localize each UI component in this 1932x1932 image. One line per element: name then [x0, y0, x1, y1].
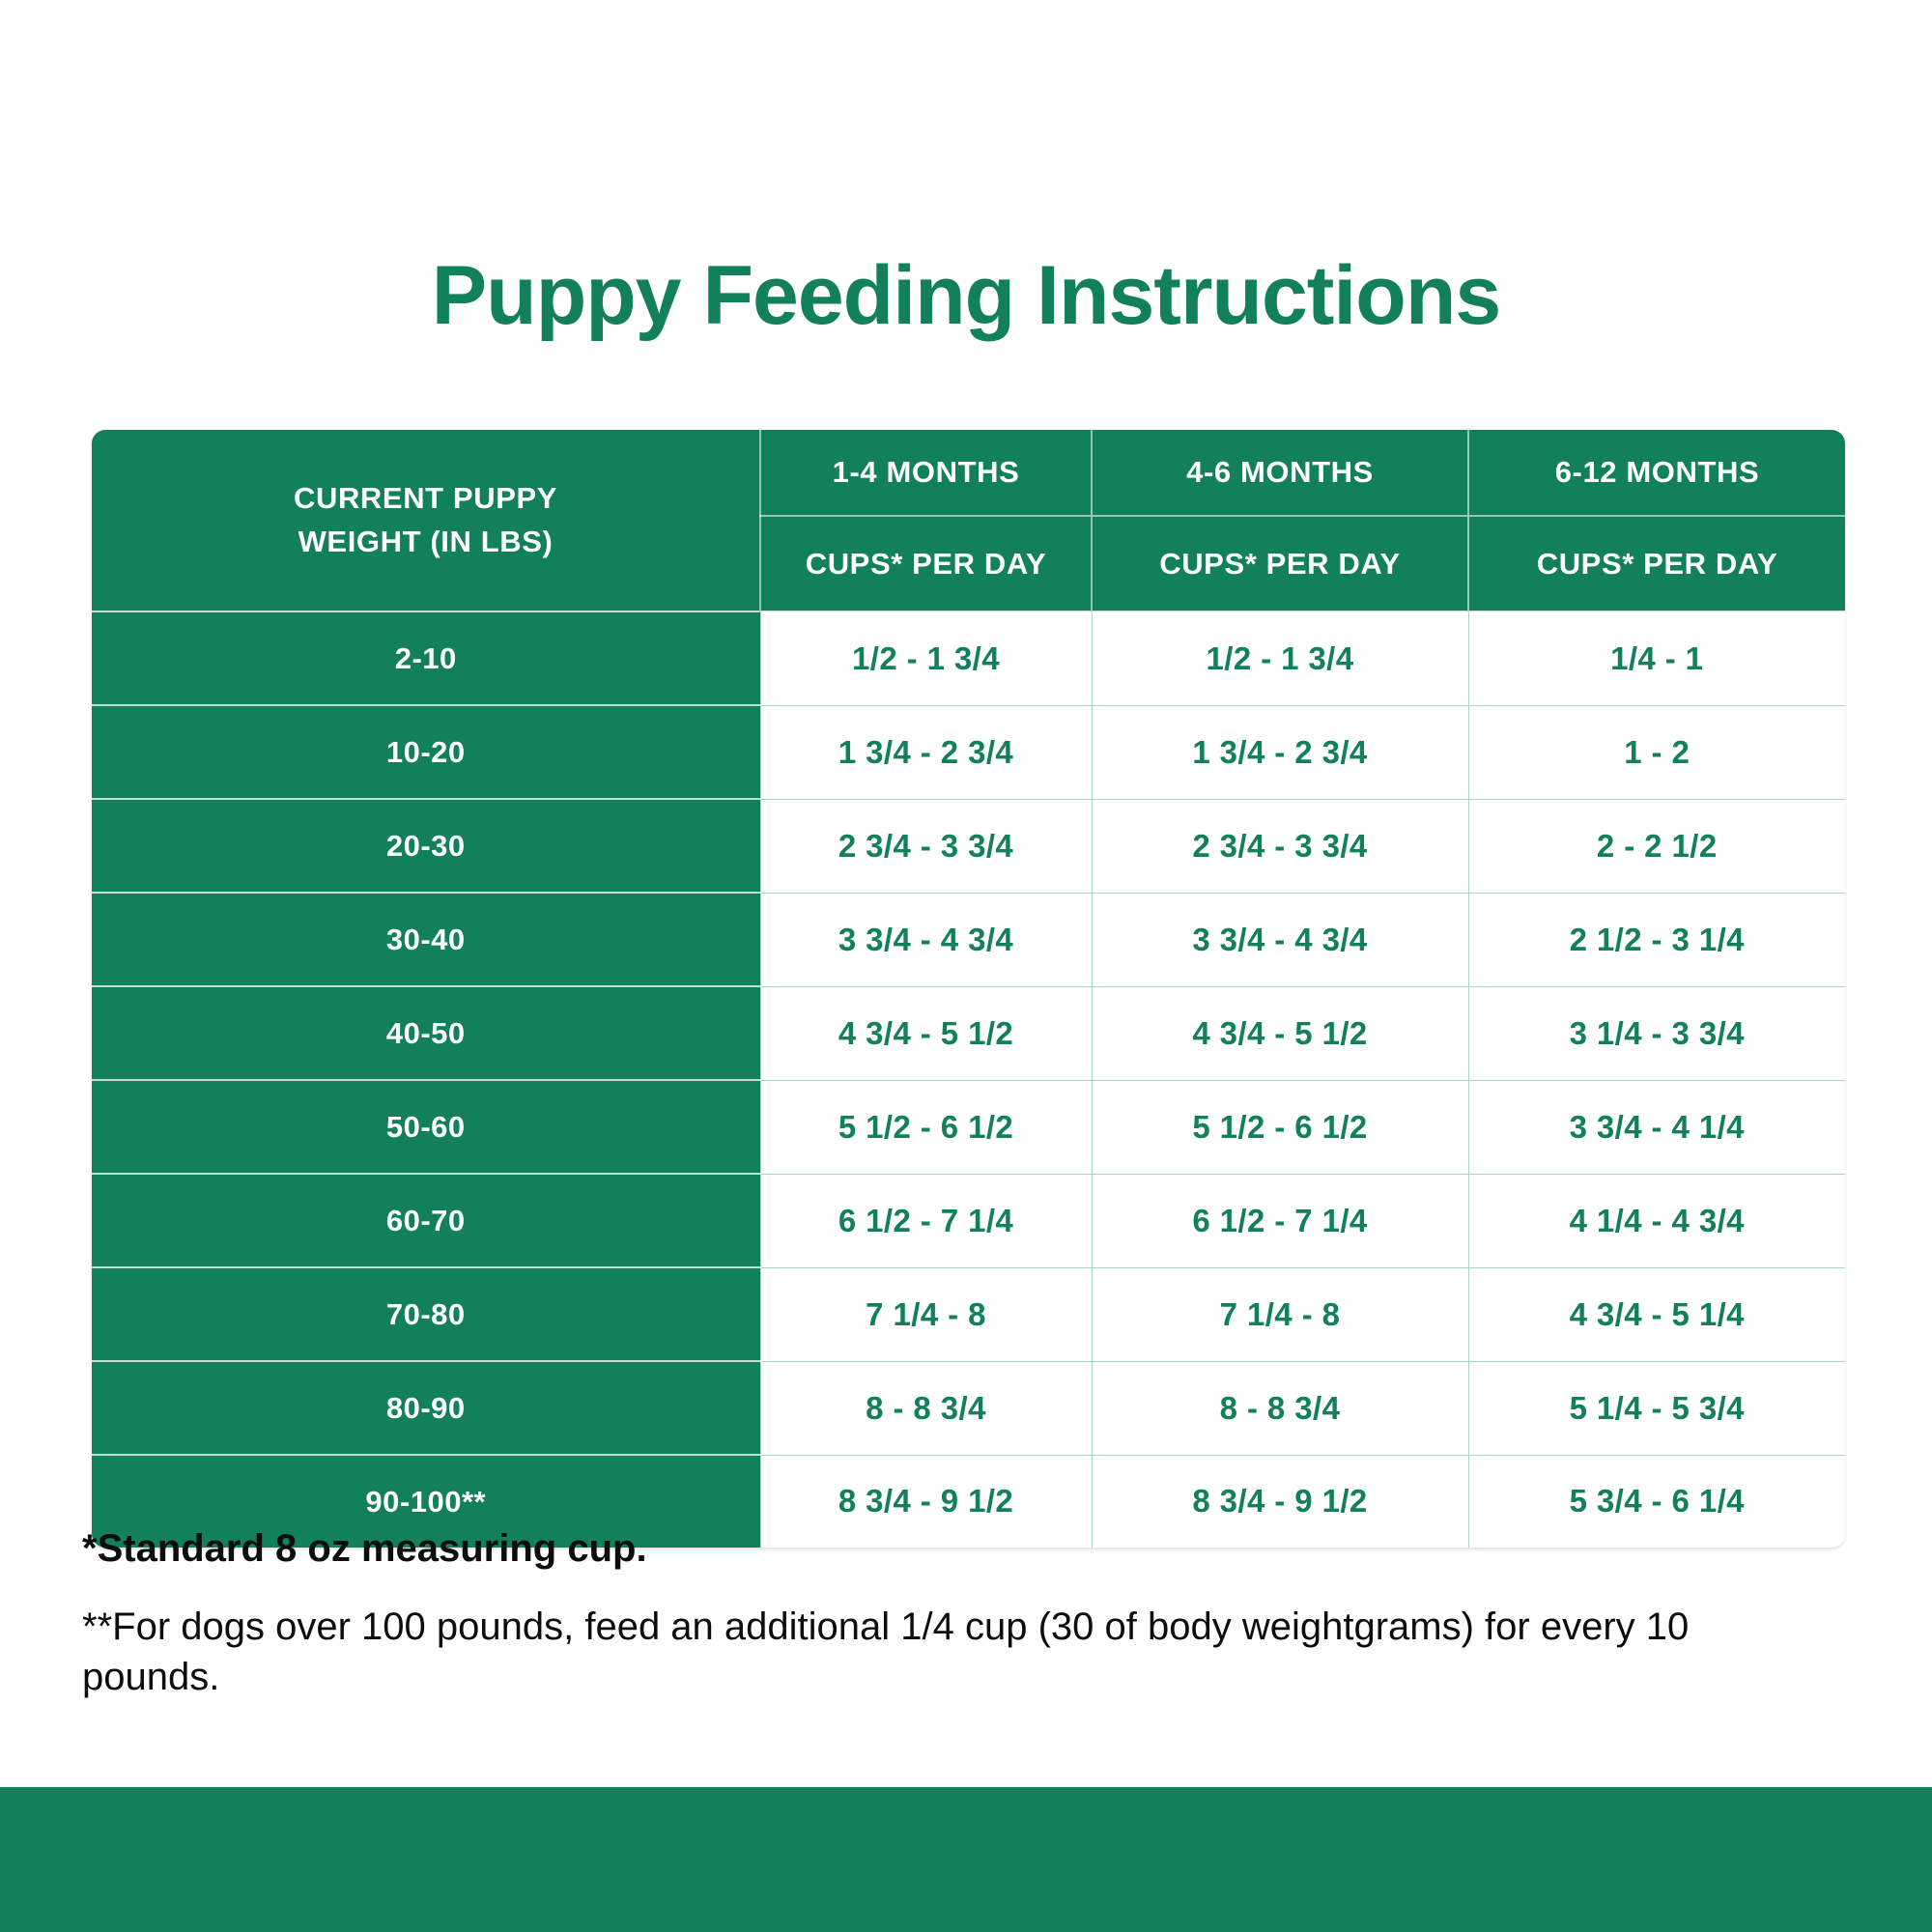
cell-cups-per-day-3: 1/4 - 1: [1468, 611, 1845, 705]
table-header-row-periods: CURRENT PUPPY WEIGHT (IN LBS) 1-4 MONTHS…: [92, 430, 1845, 516]
table-row: 10-201 3/4 - 2 3/41 3/4 - 2 3/41 - 2: [92, 705, 1845, 799]
cell-weight-range: 60-70: [92, 1174, 760, 1267]
cell-weight-range: 10-20: [92, 705, 760, 799]
cell-cups-per-day-3: 3 1/4 - 3 3/4: [1468, 986, 1845, 1080]
cell-weight-range: 30-40: [92, 893, 760, 986]
cell-cups-per-day-3: 4 1/4 - 4 3/4: [1468, 1174, 1845, 1267]
cell-weight-range: 80-90: [92, 1361, 760, 1455]
column-header-period-1-4-months: 1-4 MONTHS: [760, 430, 1092, 516]
cell-cups-per-day-3: 2 - 2 1/2: [1468, 799, 1845, 893]
column-header-period-6-12-months: 6-12 MONTHS: [1468, 430, 1845, 516]
footnote-measuring-cup: *Standard 8 oz measuring cup.: [82, 1524, 1850, 1573]
cell-cups-per-day-2: 8 - 8 3/4: [1092, 1361, 1468, 1455]
cell-weight-range: 70-80: [92, 1267, 760, 1361]
cell-weight-range: 2-10: [92, 611, 760, 705]
cell-weight-range: 50-60: [92, 1080, 760, 1174]
cell-cups-per-day-2: 5 1/2 - 6 1/2: [1092, 1080, 1468, 1174]
table-row: 20-302 3/4 - 3 3/42 3/4 - 3 3/42 - 2 1/2: [92, 799, 1845, 893]
cell-cups-per-day-2: 6 1/2 - 7 1/4: [1092, 1174, 1468, 1267]
bottom-brand-bar: [0, 1787, 1932, 1932]
cell-weight-range: 40-50: [92, 986, 760, 1080]
cell-cups-per-day-2: 4 3/4 - 5 1/2: [1092, 986, 1468, 1080]
feeding-table-container: CURRENT PUPPY WEIGHT (IN LBS) 1-4 MONTHS…: [92, 430, 1845, 1548]
column-header-weight-line2: WEIGHT (IN LBS): [92, 521, 759, 563]
column-subheader-cups-1-4-months: CUPS* PER DAY: [760, 516, 1092, 611]
cell-cups-per-day-1: 1/2 - 1 3/4: [760, 611, 1092, 705]
cell-cups-per-day-2: 7 1/4 - 8: [1092, 1267, 1468, 1361]
table-row: 30-403 3/4 - 4 3/43 3/4 - 4 3/42 1/2 - 3…: [92, 893, 1845, 986]
cell-weight-range: 20-30: [92, 799, 760, 893]
cell-cups-per-day-3: 3 3/4 - 4 1/4: [1468, 1080, 1845, 1174]
cell-cups-per-day-1: 6 1/2 - 7 1/4: [760, 1174, 1092, 1267]
table-row: 70-807 1/4 - 87 1/4 - 84 3/4 - 5 1/4: [92, 1267, 1845, 1361]
column-subheader-cups-4-6-months: CUPS* PER DAY: [1092, 516, 1468, 611]
table-row: 80-908 - 8 3/48 - 8 3/45 1/4 - 5 3/4: [92, 1361, 1845, 1455]
column-header-weight: CURRENT PUPPY WEIGHT (IN LBS): [92, 430, 760, 611]
cell-cups-per-day-1: 5 1/2 - 6 1/2: [760, 1080, 1092, 1174]
cell-cups-per-day-1: 2 3/4 - 3 3/4: [760, 799, 1092, 893]
puppy-feeding-table: CURRENT PUPPY WEIGHT (IN LBS) 1-4 MONTHS…: [92, 430, 1845, 1548]
table-header: CURRENT PUPPY WEIGHT (IN LBS) 1-4 MONTHS…: [92, 430, 1845, 611]
table-body: 2-101/2 - 1 3/41/2 - 1 3/41/4 - 110-201 …: [92, 611, 1845, 1548]
cell-cups-per-day-1: 7 1/4 - 8: [760, 1267, 1092, 1361]
cell-cups-per-day-3: 5 1/4 - 5 3/4: [1468, 1361, 1845, 1455]
cell-cups-per-day-2: 3 3/4 - 4 3/4: [1092, 893, 1468, 986]
cell-cups-per-day-1: 3 3/4 - 4 3/4: [760, 893, 1092, 986]
column-header-weight-line1: CURRENT PUPPY: [92, 477, 759, 520]
column-subheader-cups-6-12-months: CUPS* PER DAY: [1468, 516, 1845, 611]
cell-cups-per-day-1: 4 3/4 - 5 1/2: [760, 986, 1092, 1080]
cell-cups-per-day-3: 1 - 2: [1468, 705, 1845, 799]
table-row: 60-706 1/2 - 7 1/46 1/2 - 7 1/44 1/4 - 4…: [92, 1174, 1845, 1267]
cell-cups-per-day-1: 1 3/4 - 2 3/4: [760, 705, 1092, 799]
column-header-period-4-6-months: 4-6 MONTHS: [1092, 430, 1468, 516]
cell-cups-per-day-2: 1/2 - 1 3/4: [1092, 611, 1468, 705]
cell-cups-per-day-1: 8 - 8 3/4: [760, 1361, 1092, 1455]
table-row: 40-504 3/4 - 5 1/24 3/4 - 5 1/23 1/4 - 3…: [92, 986, 1845, 1080]
footnote-over-100-pounds: **For dogs over 100 pounds, feed an addi…: [82, 1602, 1821, 1702]
cell-cups-per-day-3: 2 1/2 - 3 1/4: [1468, 893, 1845, 986]
table-row: 50-605 1/2 - 6 1/25 1/2 - 6 1/23 3/4 - 4…: [92, 1080, 1845, 1174]
cell-cups-per-day-2: 2 3/4 - 3 3/4: [1092, 799, 1468, 893]
table-row: 2-101/2 - 1 3/41/2 - 1 3/41/4 - 1: [92, 611, 1845, 705]
footnotes: *Standard 8 oz measuring cup. **For dogs…: [82, 1524, 1850, 1702]
page-title: Puppy Feeding Instructions: [0, 254, 1932, 337]
cell-cups-per-day-2: 1 3/4 - 2 3/4: [1092, 705, 1468, 799]
cell-cups-per-day-3: 4 3/4 - 5 1/4: [1468, 1267, 1845, 1361]
